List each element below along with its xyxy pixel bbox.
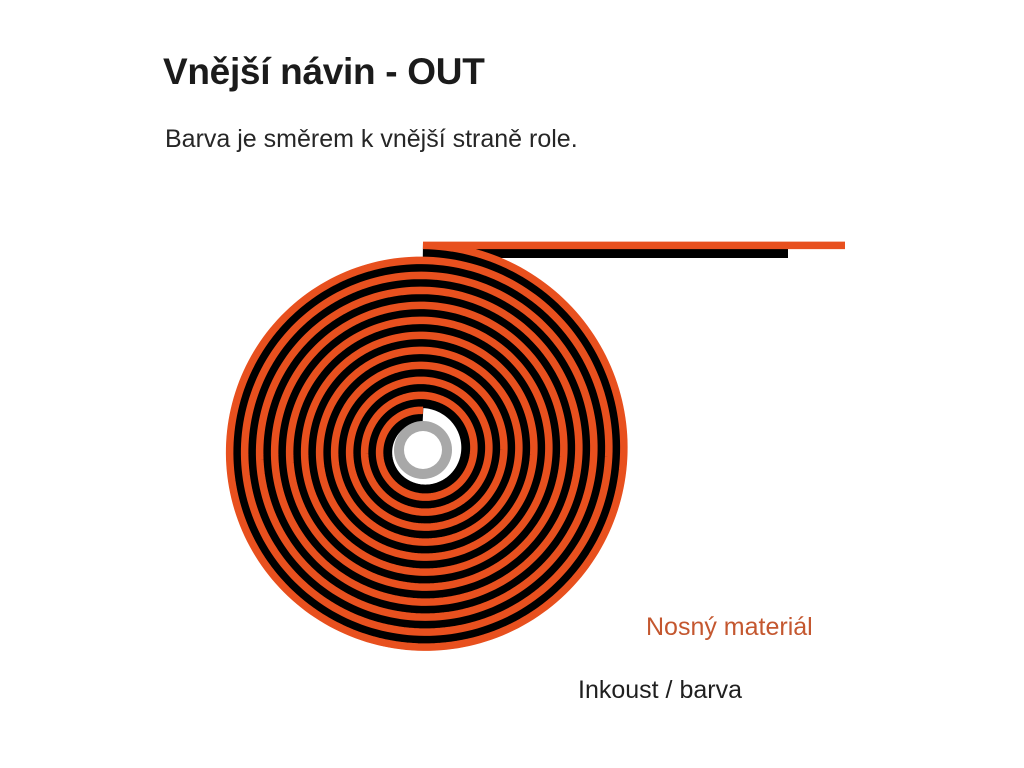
slide-canvas: Vnější návin - OUT Barva je směrem k vně… xyxy=(0,0,1024,768)
roll-core xyxy=(394,421,452,479)
ink-color-label: Inkoust / barva xyxy=(578,675,742,705)
spiral-winding xyxy=(230,245,845,647)
roll-diagram xyxy=(0,0,1024,768)
carrier-material-label: Nosný materiál xyxy=(646,612,813,642)
core-hole xyxy=(404,431,442,469)
